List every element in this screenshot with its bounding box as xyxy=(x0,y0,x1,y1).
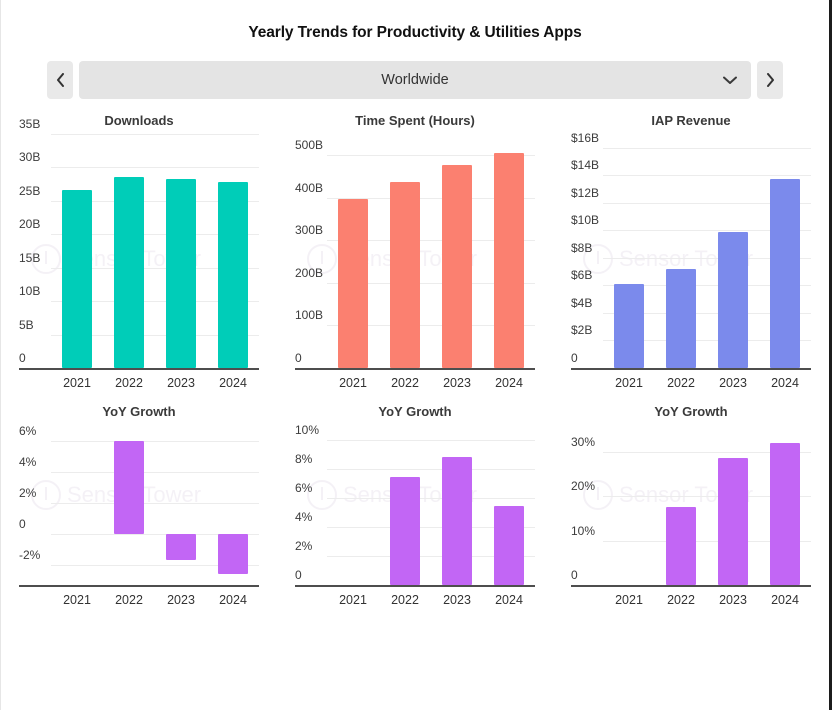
bar-slot xyxy=(207,425,259,585)
bar-slot xyxy=(707,425,759,585)
y-axis-tick-label: 300B xyxy=(295,225,323,241)
y-axis-tick-label: 25B xyxy=(19,185,40,201)
chart-cell-time-spent-yoy: YoY GrowthSensor Tower02%4%6%8%10%202120… xyxy=(277,404,553,607)
y-axis-tick-label: 30% xyxy=(571,436,595,452)
plot-area-downloads-yoy: Sensor Tower-2%02%4%6%2021202220232024 xyxy=(19,425,259,607)
bar-2024[interactable] xyxy=(494,153,524,368)
bar-series xyxy=(603,425,811,585)
x-axis-labels: 2021202220232024 xyxy=(603,587,811,607)
bar-slot xyxy=(155,425,207,585)
y-axis-tick-label: $10B xyxy=(571,215,599,231)
bar-2022[interactable] xyxy=(666,269,696,368)
bar-2021[interactable] xyxy=(62,190,92,369)
bar-2024[interactable] xyxy=(770,179,800,368)
bar-slot xyxy=(603,134,655,368)
bar-slot xyxy=(207,134,259,368)
x-axis-tick-label: 2021 xyxy=(327,593,379,607)
prev-region-button[interactable] xyxy=(47,61,73,99)
y-axis-tick-label: 20B xyxy=(19,218,40,234)
bar-slot xyxy=(327,134,379,368)
bar-slot xyxy=(483,425,535,585)
bar-slot xyxy=(155,134,207,368)
y-axis-tick-label: 0 xyxy=(571,352,578,368)
y-axis-tick-label: 8% xyxy=(295,453,312,469)
y-axis-tick-label: 10B xyxy=(19,285,40,301)
bar-slot xyxy=(431,425,483,585)
bar-2023[interactable] xyxy=(166,534,196,560)
x-axis-tick-label: 2021 xyxy=(327,376,379,390)
y-axis-tick-label: 2% xyxy=(295,540,312,556)
x-axis-tick-label: 2022 xyxy=(379,593,431,607)
chart-cell-time-spent: Time Spent (Hours)Sensor Tower0100B200B3… xyxy=(277,113,553,390)
y-axis-tick-label: $4B xyxy=(571,297,592,313)
bar-2022[interactable] xyxy=(390,182,420,368)
x-axis-tick-label: 2024 xyxy=(483,593,535,607)
plot-area-time-spent-yoy: Sensor Tower02%4%6%8%10%2021202220232024 xyxy=(295,425,535,607)
x-axis-tick-label: 2023 xyxy=(155,376,207,390)
x-axis-tick-label: 2021 xyxy=(603,376,655,390)
y-axis-tick-label: 0 xyxy=(19,518,26,534)
bar-slot xyxy=(51,425,103,585)
x-axis-labels: 2021202220232024 xyxy=(327,370,535,390)
y-axis-tick-label: 2% xyxy=(19,487,36,503)
bar-slot xyxy=(603,425,655,585)
y-axis-tick-label: $6B xyxy=(571,270,592,286)
chart-title-iap-revenue: IAP Revenue xyxy=(553,113,829,128)
bar-slot xyxy=(655,134,707,368)
plot-area-downloads: Sensor Tower05B10B15B20B25B30B35B2021202… xyxy=(19,134,259,390)
x-axis-tick-label: 2023 xyxy=(707,376,759,390)
region-dropdown[interactable]: Worldwide xyxy=(79,61,751,99)
y-axis-tick-label: 200B xyxy=(295,267,323,283)
bar-slot xyxy=(759,425,811,585)
x-axis-tick-label: 2022 xyxy=(379,376,431,390)
y-axis-tick-label: 0 xyxy=(571,569,578,585)
y-axis-tick-label: 0 xyxy=(295,569,302,585)
region-selector-row: Worldwide xyxy=(47,61,783,99)
bar-slot xyxy=(103,425,155,585)
y-axis-tick-label: 15B xyxy=(19,252,40,268)
y-axis-tick-label: 10% xyxy=(571,525,595,541)
y-axis-tick-label: 400B xyxy=(295,182,323,198)
x-axis-labels: 2021202220232024 xyxy=(327,587,535,607)
bar-2022[interactable] xyxy=(114,441,144,534)
y-axis-tick-label: 4% xyxy=(295,511,312,527)
axis-area: 02%4%6%8%10% xyxy=(295,425,535,585)
y-axis-tick-label: $14B xyxy=(571,159,599,175)
bar-2023[interactable] xyxy=(718,232,748,368)
bar-slot xyxy=(707,134,759,368)
x-axis-tick-label: 2021 xyxy=(51,376,103,390)
axis-area: 0$2B$4B$6B$8B$10B$12B$14B$16B xyxy=(571,134,811,368)
bar-2024[interactable] xyxy=(218,182,248,368)
bar-2024[interactable] xyxy=(770,443,800,585)
x-axis-tick-label: 2023 xyxy=(431,376,483,390)
bar-slot xyxy=(379,425,431,585)
bar-series xyxy=(51,134,259,368)
bar-series xyxy=(327,425,535,585)
x-axis-tick-label: 2023 xyxy=(707,593,759,607)
plot-area-iap-revenue-yoy: Sensor Tower010%20%30%2021202220232024 xyxy=(571,425,811,607)
page-title: Yearly Trends for Productivity & Utiliti… xyxy=(1,0,829,42)
bar-2023[interactable] xyxy=(166,179,196,368)
plot-area-time-spent: Sensor Tower0100B200B300B400B500B2021202… xyxy=(295,134,535,390)
y-axis-tick-label: 4% xyxy=(19,456,36,472)
bar-slot xyxy=(327,425,379,585)
y-axis-tick-label: 30B xyxy=(19,152,40,168)
axis-area: 05B10B15B20B25B30B35B xyxy=(19,134,259,368)
chart-title-time-spent: Time Spent (Hours) xyxy=(277,113,553,128)
top-chart-row: DownloadsSensor Tower05B10B15B20B25B30B3… xyxy=(1,113,829,390)
bar-series xyxy=(51,425,259,585)
bar-slot xyxy=(51,134,103,368)
chevron-left-icon xyxy=(56,73,65,87)
y-axis-tick-label: 100B xyxy=(295,310,323,326)
next-region-button[interactable] xyxy=(757,61,783,99)
bar-slot xyxy=(103,134,155,368)
bar-slot xyxy=(655,425,707,585)
x-axis-tick-label: 2022 xyxy=(655,376,707,390)
x-axis-labels: 2021202220232024 xyxy=(51,587,259,607)
bar-2022[interactable] xyxy=(390,477,420,585)
x-axis-tick-label: 2022 xyxy=(655,593,707,607)
bar-series xyxy=(327,134,535,368)
y-axis-tick-label: -2% xyxy=(19,549,40,565)
dashboard-page: Yearly Trends for Productivity & Utiliti… xyxy=(1,0,829,710)
x-axis-labels: 2021202220232024 xyxy=(603,370,811,390)
x-axis-labels: 2021202220232024 xyxy=(51,370,259,390)
x-axis-tick-label: 2021 xyxy=(603,593,655,607)
y-axis-tick-label: 0 xyxy=(19,352,26,368)
bar-2024[interactable] xyxy=(218,534,248,574)
plot-area-iap-revenue: Sensor Tower0$2B$4B$6B$8B$10B$12B$14B$16… xyxy=(571,134,811,390)
y-axis-tick-label: $8B xyxy=(571,242,592,258)
bar-2023[interactable] xyxy=(718,458,748,585)
chart-cell-iap-revenue-yoy: YoY GrowthSensor Tower010%20%30%20212022… xyxy=(553,404,829,607)
axis-area: 010%20%30% xyxy=(571,425,811,585)
y-axis-tick-label: $12B xyxy=(571,187,599,203)
bar-2024[interactable] xyxy=(494,506,524,585)
bar-slot xyxy=(759,134,811,368)
bar-series xyxy=(603,134,811,368)
y-axis-tick-label: 5B xyxy=(19,319,34,335)
x-axis-tick-label: 2024 xyxy=(207,376,259,390)
y-axis-tick-label: $16B xyxy=(571,132,599,148)
chart-title-downloads-yoy: YoY Growth xyxy=(1,404,277,419)
x-axis-tick-label: 2023 xyxy=(155,593,207,607)
bar-2022[interactable] xyxy=(114,177,144,368)
axis-area: -2%02%4%6% xyxy=(19,425,259,585)
y-axis-tick-label: 500B xyxy=(295,139,323,155)
chart-title-downloads: Downloads xyxy=(1,113,277,128)
x-axis-tick-label: 2021 xyxy=(51,593,103,607)
x-axis-tick-label: 2022 xyxy=(103,593,155,607)
bar-slot xyxy=(483,134,535,368)
chart-title-time-spent-yoy: YoY Growth xyxy=(277,404,553,419)
x-axis-tick-label: 2023 xyxy=(431,593,483,607)
chart-cell-downloads-yoy: YoY GrowthSensor Tower-2%02%4%6%20212022… xyxy=(1,404,277,607)
y-axis-tick-label: 6% xyxy=(295,482,312,498)
chevron-down-icon[interactable] xyxy=(723,76,737,85)
bar-2023[interactable] xyxy=(442,457,472,585)
x-axis-tick-label: 2024 xyxy=(483,376,535,390)
y-axis-tick-label: 10% xyxy=(295,424,319,440)
chevron-right-icon xyxy=(766,73,775,87)
bar-2021[interactable] xyxy=(338,199,368,368)
y-axis-tick-label: 20% xyxy=(571,480,595,496)
y-axis-tick-label: 6% xyxy=(19,425,36,441)
bottom-chart-row: YoY GrowthSensor Tower-2%02%4%6%20212022… xyxy=(1,404,829,607)
bar-slot xyxy=(431,134,483,368)
chart-cell-iap-revenue: IAP RevenueSensor Tower0$2B$4B$6B$8B$10B… xyxy=(553,113,829,390)
region-dropdown-value: Worldwide xyxy=(79,72,751,88)
x-axis-tick-label: 2022 xyxy=(103,376,155,390)
y-axis-tick-label: 0 xyxy=(295,352,302,368)
chart-title-iap-revenue-yoy: YoY Growth xyxy=(553,404,829,419)
x-axis-tick-label: 2024 xyxy=(759,376,811,390)
bar-2023[interactable] xyxy=(442,165,472,368)
y-axis-tick-label: 35B xyxy=(19,118,40,134)
chart-cell-downloads: DownloadsSensor Tower05B10B15B20B25B30B3… xyxy=(1,113,277,390)
bar-slot xyxy=(379,134,431,368)
x-axis-tick-label: 2024 xyxy=(759,593,811,607)
bar-2022[interactable] xyxy=(666,507,696,585)
axis-area: 0100B200B300B400B500B xyxy=(295,134,535,368)
y-axis-tick-label: $2B xyxy=(571,325,592,341)
x-axis-tick-label: 2024 xyxy=(207,593,259,607)
bar-2021[interactable] xyxy=(614,284,644,368)
